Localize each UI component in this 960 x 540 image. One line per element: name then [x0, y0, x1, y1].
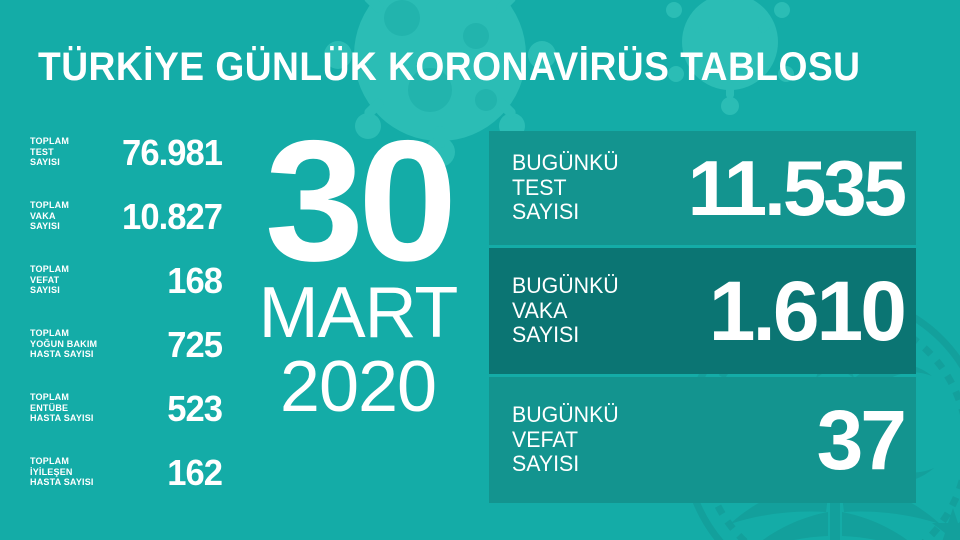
total-row-yogun-bakim-value: 725 [107, 327, 222, 363]
today-box-test: BUGÜNKÜ TEST SAYISI 11.535 [489, 131, 916, 245]
total-row-vaka-label: TOPLAM VAKA SAYISI [30, 201, 98, 233]
label-line-3: HASTA SAYISI [30, 478, 98, 489]
totals-column: TOPLAM TEST SAYISI 76.981 TOPLAM VAKA SA… [30, 127, 222, 505]
label-line-3: SAYISI [512, 323, 619, 348]
today-box-vaka-value: 1.610 [622, 269, 904, 353]
label-line-1: BUGÜNKÜ [512, 403, 619, 428]
total-row-test: TOPLAM TEST SAYISI 76.981 [30, 127, 222, 179]
label-line-1: TOPLAM [30, 393, 98, 404]
total-row-entube: TOPLAM ENTÜBE HASTA SAYISI 523 [30, 383, 222, 435]
label-line-2: TEST [512, 176, 619, 201]
label-line-3: SAYISI [512, 200, 619, 225]
total-row-vefat-label: TOPLAM VEFAT SAYISI [30, 265, 98, 297]
total-row-yogun-bakim: TOPLAM YOĞUN BAKIM HASTA SAYISI 725 [30, 319, 222, 371]
label-line-3: SAYISI [30, 158, 98, 169]
label-line-3: SAYISI [512, 452, 619, 477]
today-box-vaka-label: BUGÜNKÜ VAKA SAYISI [512, 274, 619, 348]
today-panel: BUGÜNKÜ TEST SAYISI 11.535 BUGÜNKÜ VAKA … [489, 131, 916, 503]
today-box-vaka: BUGÜNKÜ VAKA SAYISI 1.610 [489, 248, 916, 374]
total-row-entube-value: 523 [107, 391, 222, 427]
total-row-entube-label: TOPLAM ENTÜBE HASTA SAYISI [30, 393, 98, 425]
total-row-vefat-value: 168 [107, 263, 222, 299]
label-line-1: TOPLAM [30, 329, 98, 340]
infographic-canvas: TÜRKİYE GÜNLÜK KORONAVİRÜS TABLOSU TOPLA… [0, 0, 960, 540]
total-row-iyilesen-label: TOPLAM İYİLEŞEN HASTA SAYISI [30, 457, 98, 489]
today-box-vefat-label: BUGÜNKÜ VEFAT SAYISI [512, 403, 619, 477]
date-year: 2020 [246, 350, 470, 424]
today-box-test-value: 11.535 [622, 149, 904, 227]
label-line-2: VAKA [512, 299, 619, 324]
total-row-vaka-value: 10.827 [107, 199, 222, 235]
label-line-2: VEFAT [512, 428, 619, 453]
label-line-3: HASTA SAYISI [30, 414, 98, 425]
label-line-3: SAYISI [30, 222, 98, 233]
date-block: 30 MART 2020 [246, 130, 470, 424]
label-line-3: HASTA SAYISI [30, 350, 98, 361]
total-row-vaka: TOPLAM VAKA SAYISI 10.827 [30, 191, 222, 243]
label-line-3: SAYISI [30, 286, 98, 297]
today-box-vefat-value: 37 [622, 398, 904, 482]
total-row-test-value: 76.981 [107, 135, 222, 171]
total-row-test-label: TOPLAM TEST SAYISI [30, 137, 98, 169]
total-row-vefat: TOPLAM VEFAT SAYISI 168 [30, 255, 222, 307]
total-row-iyilesen-value: 162 [107, 455, 222, 491]
label-line-1: TOPLAM [30, 265, 98, 276]
today-box-test-label: BUGÜNKÜ TEST SAYISI [512, 151, 619, 225]
label-line-1: TOPLAM [30, 137, 98, 148]
total-row-iyilesen: TOPLAM İYİLEŞEN HASTA SAYISI 162 [30, 447, 222, 499]
label-line-1: TOPLAM [30, 457, 98, 468]
label-line-1: BUGÜNKÜ [512, 274, 619, 299]
label-line-1: TOPLAM [30, 201, 98, 212]
label-line-1: BUGÜNKÜ [512, 151, 619, 176]
today-box-vefat: BUGÜNKÜ VEFAT SAYISI 37 [489, 377, 916, 503]
page-title: TÜRKİYE GÜNLÜK KORONAVİRÜS TABLOSU [38, 47, 860, 87]
date-day: 30 [242, 130, 475, 272]
total-row-yogun-bakim-label: TOPLAM YOĞUN BAKIM HASTA SAYISI [30, 329, 98, 361]
